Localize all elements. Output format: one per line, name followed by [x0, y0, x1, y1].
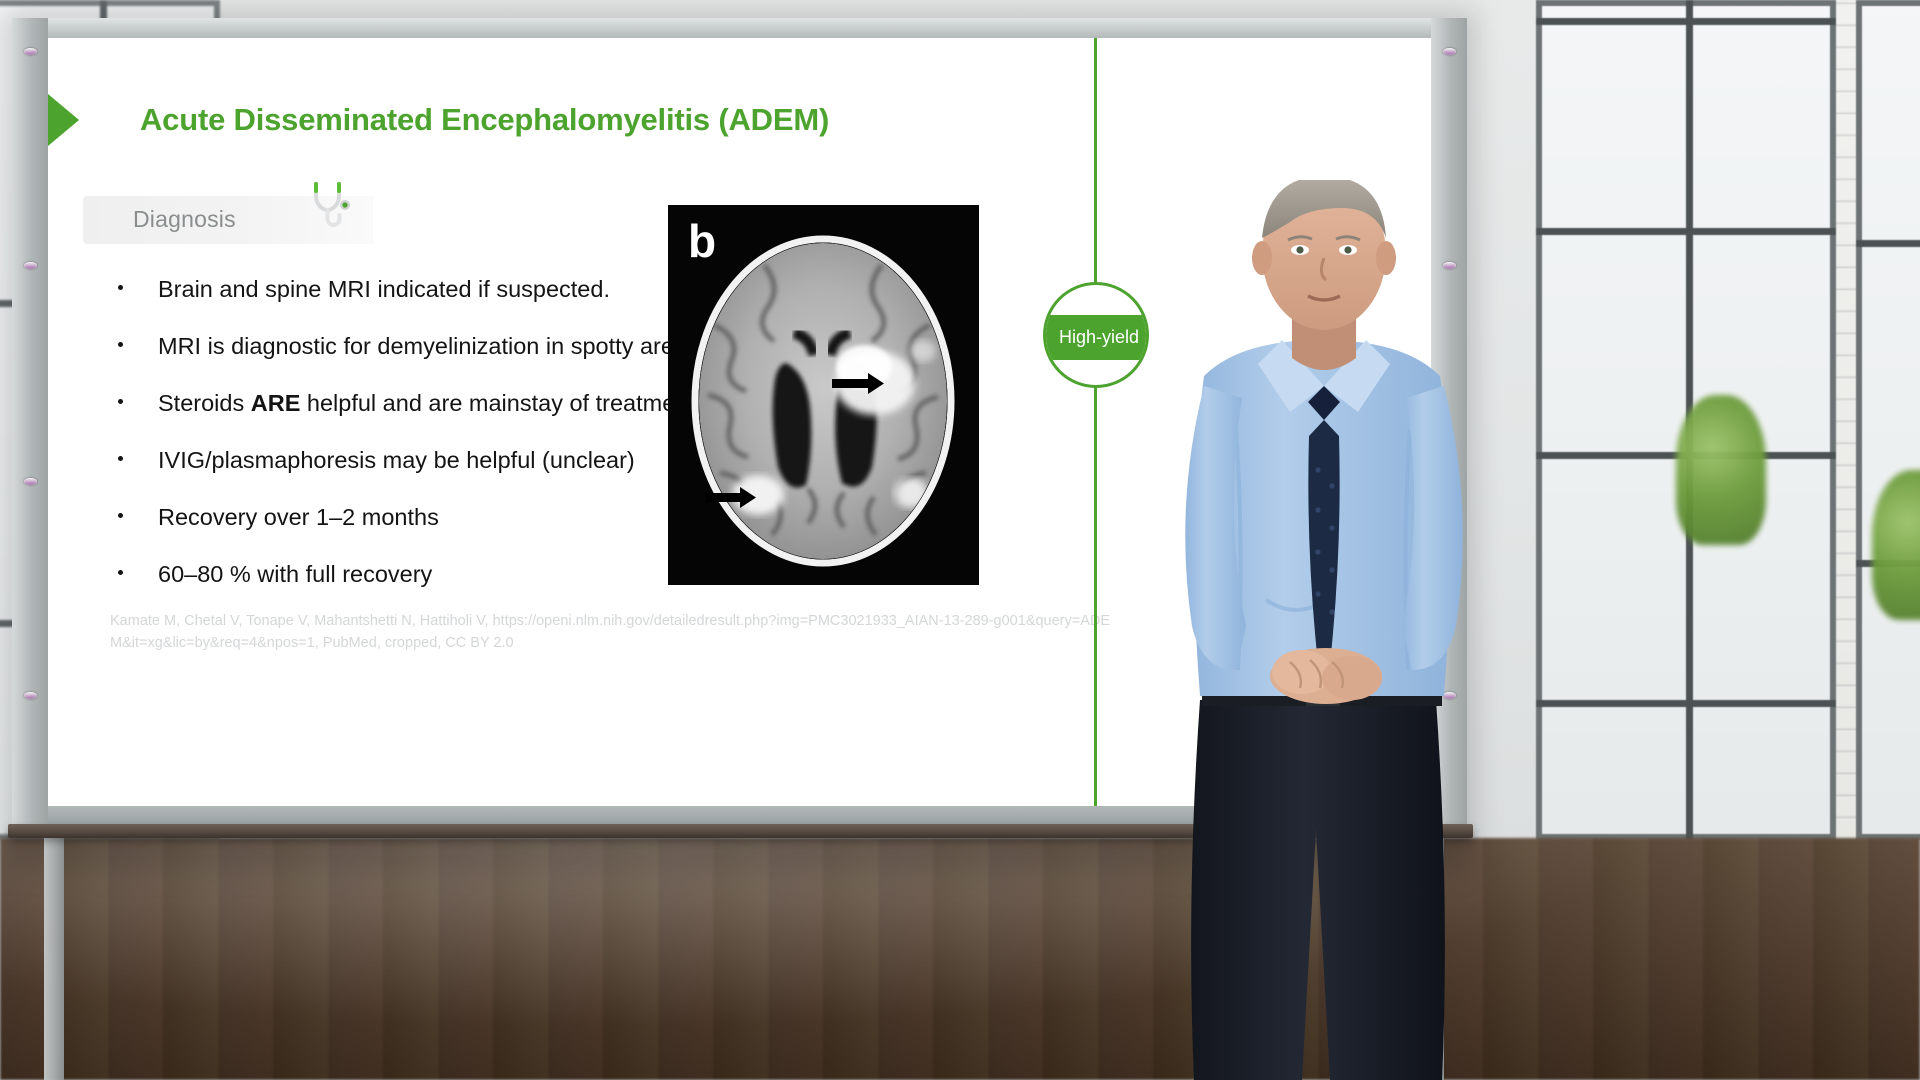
frame-screw	[1443, 48, 1456, 55]
list-item: Brain and spine MRI indicated if suspect…	[110, 274, 730, 331]
bullet-dot	[118, 399, 123, 404]
high-yield-divider-line	[1094, 38, 1097, 806]
plant-left	[1676, 395, 1766, 545]
bullet-dot	[118, 456, 123, 461]
window-far-right	[1856, 0, 1920, 840]
image-credit: Kamate M, Chetal V, Tonape V, Mahantshet…	[110, 610, 1120, 654]
list-item-text-emphasis: ARE	[251, 390, 301, 416]
screenshot-stage: Acute Disseminated Encephalomyelitis (AD…	[0, 0, 1920, 1080]
list-item-text-post: helpful and are mainstay of treatment	[300, 390, 695, 416]
list-item: IVIG/plasmaphoresis may be helpful (uncl…	[110, 445, 730, 502]
frame-rail-top	[12, 18, 1467, 38]
list-item-text: Recovery over 1–2 months	[158, 504, 439, 530]
list-item-text: 60–80 % with full recovery	[158, 561, 432, 587]
frame-screw	[24, 478, 37, 485]
list-item-text-pre: Steroids	[158, 390, 251, 416]
high-yield-band: High-yield	[1043, 315, 1149, 360]
slide-title: Acute Disseminated Encephalomyelitis (AD…	[140, 102, 829, 138]
high-yield-label: High-yield	[1059, 327, 1139, 348]
list-item: Steroids ARE helpful and are mainstay of…	[110, 388, 730, 445]
figure-panel-label: b	[688, 215, 716, 267]
presenter-video	[1140, 180, 1610, 1080]
bullet-dot	[118, 513, 123, 518]
subtitle-label: Diagnosis	[133, 206, 236, 233]
list-item: 60–80 % with full recovery	[110, 559, 730, 616]
list-item-text: Brain and spine MRI indicated if suspect…	[158, 276, 610, 302]
frame-screw	[24, 48, 37, 55]
list-item-text: MRI is diagnostic for demyelinization in…	[158, 333, 699, 359]
status-badge: High-yield	[1043, 282, 1149, 388]
stethoscope-icon	[304, 180, 350, 230]
frame-screw	[24, 692, 37, 699]
list-item-text: IVIG/plasmaphoresis may be helpful (uncl…	[158, 447, 635, 473]
mri-figure: b	[668, 205, 979, 585]
presenter-trousers	[1191, 700, 1445, 1080]
bullet-dot	[118, 342, 123, 347]
play-triangle-icon	[48, 94, 79, 146]
frame-screw	[24, 262, 37, 269]
bullet-dot	[118, 570, 123, 575]
bullet-dot	[118, 285, 123, 290]
list-item: Recovery over 1–2 months	[110, 502, 730, 559]
list-item: MRI is diagnostic for demyelinization in…	[110, 331, 730, 388]
frame-rail-left	[12, 18, 48, 826]
whiteboard-leg-left	[44, 838, 64, 1080]
floor-reflection	[0, 838, 1920, 1080]
bullet-list: Brain and spine MRI indicated if suspect…	[110, 274, 730, 616]
presenter-hands	[1270, 648, 1382, 704]
